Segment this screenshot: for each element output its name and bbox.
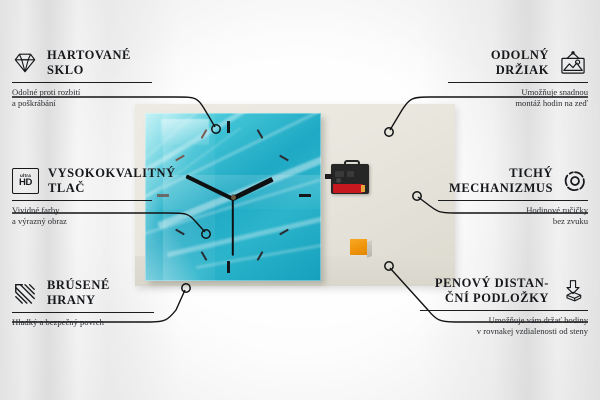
tick-1 [257, 129, 264, 139]
tick-6 [227, 261, 230, 273]
second-hand [232, 198, 234, 256]
ultra-hd-icon: ultra HD [12, 168, 39, 194]
feature-high-quality-print: ultra HD VYSOKOKVALITNÝ TLAČ Vividné far… [12, 166, 152, 226]
ultra-hd-large-label: HD [19, 178, 32, 188]
diamond-icon [12, 51, 38, 75]
tick-3 [299, 194, 311, 197]
clock-hands-hub [231, 195, 236, 200]
feature-desc: Vividné farby a výrazný obraz [12, 205, 152, 226]
feature-title: ODOLNÝ DRŽIAK [491, 48, 549, 77]
product-photo [135, 104, 455, 286]
feature-rule [420, 310, 588, 311]
feature-durable-mount: ODOLNÝ DRŽIAK Umožňuje snadnou montáž ho… [448, 48, 588, 108]
feature-desc: Odolné proti rozbití a poškrábání [12, 87, 152, 108]
clock-mechanism [331, 160, 369, 194]
foam-spacer-icon [558, 279, 588, 303]
wall-mount-picture-icon [558, 51, 588, 75]
feature-title: PENOVÝ DISTAN- ČNÍ PODLOŽKY [435, 276, 549, 305]
feature-desc: Hodinové ručičky bez zvuku [438, 205, 588, 226]
feature-silent-mechanism: TICHÝ MECHANIZMUS Hodinové ručičky bez z… [438, 166, 588, 226]
feature-title: BRÚSENÉ HRANY [47, 278, 110, 307]
clock-corner-highlight [161, 119, 209, 145]
feature-rule [12, 200, 152, 201]
feature-rule [12, 82, 152, 83]
feature-rule [438, 200, 588, 201]
feature-ground-edges: BRÚSENÉ HRANY Hladký a bezpečný povrch [12, 278, 154, 328]
tick-2 [279, 155, 289, 162]
feature-title: HARTOVANÉ SKLO [47, 48, 131, 77]
infographic-canvas: HARTOVANÉ SKLO Odolné proti rozbití a po… [0, 0, 600, 400]
feature-title: VYSOKOKVALITNÝ TLAČ [48, 166, 176, 195]
gear-icon [562, 169, 588, 193]
feature-rule [12, 312, 154, 313]
feature-title: TICHÝ MECHANIZMUS [449, 166, 553, 195]
feature-hardened-glass: HARTOVANÉ SKLO Odolné proti rozbití a po… [12, 48, 152, 108]
tick-12 [227, 121, 230, 133]
feature-desc: Hladký a bezpečný povrch [12, 317, 154, 328]
feature-rule [448, 82, 588, 83]
feature-desc: Umožňuje vám držať hodiny v rovnakej vzd… [420, 315, 588, 336]
feature-foam-spacers: PENOVÝ DISTAN- ČNÍ PODLOŽKY Umožňuje vám… [420, 276, 588, 336]
foam-spacer-pad [350, 239, 367, 255]
battery [333, 184, 363, 193]
ground-edges-icon [12, 281, 38, 305]
mechanism-body [331, 164, 369, 194]
glass-wall-clock [145, 113, 321, 281]
feature-desc: Umožňuje snadnou montáž hodin na zeď [448, 87, 588, 108]
mechanism-shaft [325, 174, 332, 179]
